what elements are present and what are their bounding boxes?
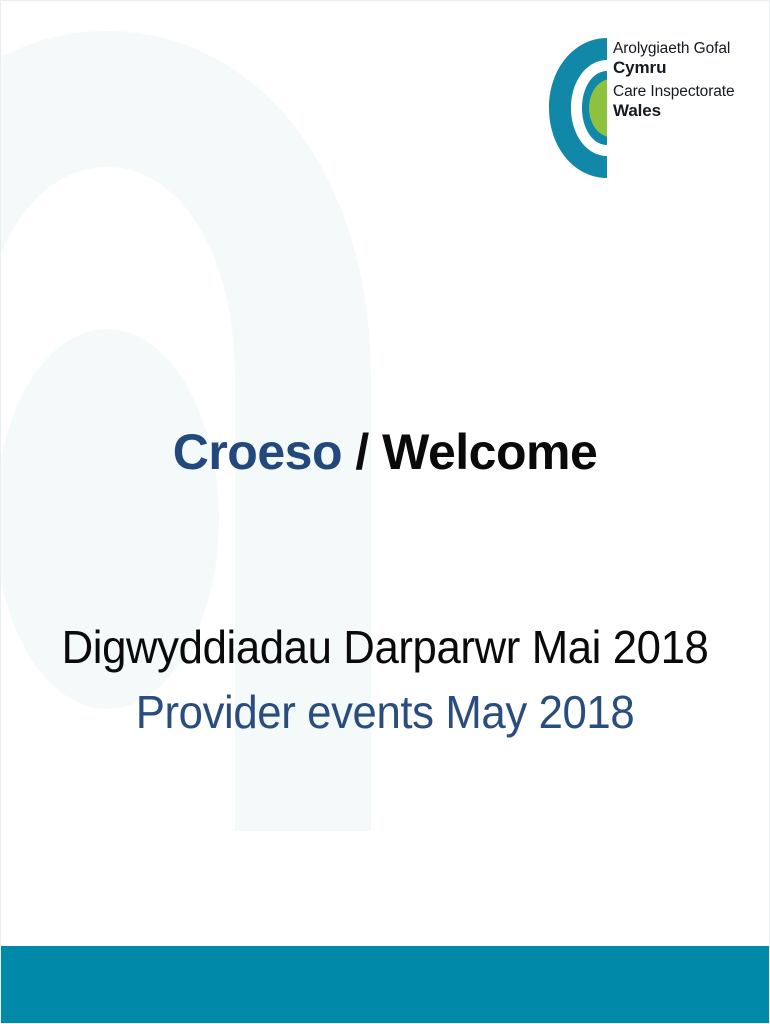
slide-subtitle-welsh: Digwyddiadau Darparwr Mai 2018 <box>20 615 750 680</box>
logo-wordmark: Arolygiaeth Gofal Cymru Care Inspectorat… <box>613 35 735 127</box>
logo-english-line-1: Care Inspectorate <box>613 84 735 101</box>
logo-welsh-line-2: Cymru <box>613 59 735 77</box>
logo-english-line-2: Wales <box>613 102 735 120</box>
logo-welsh-line-1: Arolygiaeth Gofal <box>613 41 735 58</box>
footer-accent-bar <box>1 946 769 1023</box>
slide-subtitle-english: Provider events May 2018 <box>20 680 750 745</box>
slide-title-english: Welcome <box>382 424 597 480</box>
slide-title-welsh: Croeso <box>173 424 342 480</box>
headline-block: Croeso / Welcome <box>1 425 769 480</box>
care-inspectorate-wales-c-mark-icon <box>545 35 607 181</box>
organisation-logo: Arolygiaeth Gofal Cymru Care Inspectorat… <box>545 35 749 183</box>
slide-title-separator: / <box>342 424 382 480</box>
subtitle-block: Digwyddiadau Darparwr Mai 2018 Provider … <box>1 615 769 746</box>
slide-title: Croeso / Welcome <box>1 425 769 480</box>
presentation-slide: Arolygiaeth Gofal Cymru Care Inspectorat… <box>0 0 770 1024</box>
